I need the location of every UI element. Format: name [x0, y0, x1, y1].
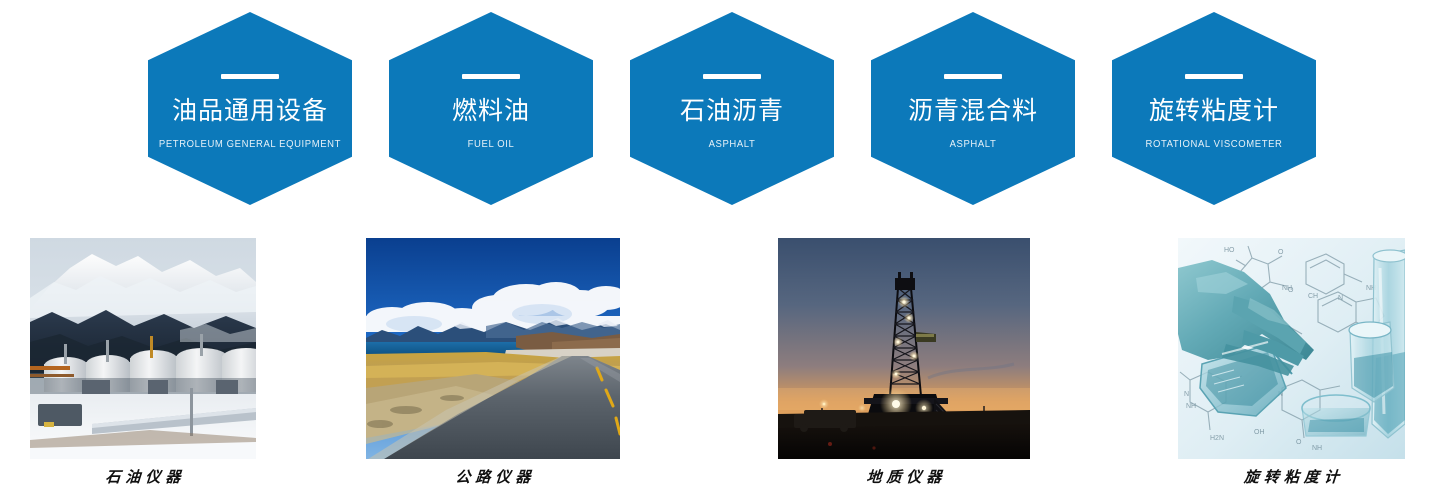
- photo-cell-2[interactable]: 公路仪器: [366, 238, 620, 459]
- svg-text:H2N: H2N: [1210, 435, 1224, 442]
- svg-text:HO: HO: [1224, 247, 1235, 254]
- svg-text:NH: NH: [1312, 445, 1322, 452]
- photo-cell-4[interactable]: HO O NH HO O NH CH N N 2H N NH H2N OH N …: [1178, 238, 1405, 459]
- svg-text:NH: NH: [1186, 403, 1196, 410]
- photo-caption: 旋转粘度计: [1177, 466, 1405, 487]
- product-photo-row: 石油仪器: [0, 0, 1440, 500]
- photo-caption: 公路仪器: [365, 466, 620, 487]
- photo-highway-image[interactable]: [366, 238, 620, 459]
- photo-caption: 地质仪器: [777, 466, 1030, 487]
- svg-text:O: O: [1278, 249, 1284, 256]
- photo-snowy-refinery-image[interactable]: [30, 238, 256, 459]
- svg-text:CH: CH: [1308, 293, 1318, 300]
- svg-text:OH: OH: [1254, 429, 1265, 436]
- svg-text:N: N: [1184, 391, 1189, 398]
- svg-text:O: O: [1288, 287, 1294, 294]
- photo-cell-1[interactable]: 石油仪器: [30, 238, 256, 459]
- svg-text:O: O: [1296, 439, 1302, 446]
- svg-text:N: N: [1338, 295, 1343, 302]
- photo-cell-3[interactable]: 地质仪器: [778, 238, 1030, 459]
- photo-caption: 石油仪器: [29, 466, 256, 487]
- photo-laboratory-image[interactable]: HO O NH HO O NH CH N N 2H N NH H2N OH N …: [1178, 238, 1405, 459]
- photo-drilling-rig-image[interactable]: [778, 238, 1030, 459]
